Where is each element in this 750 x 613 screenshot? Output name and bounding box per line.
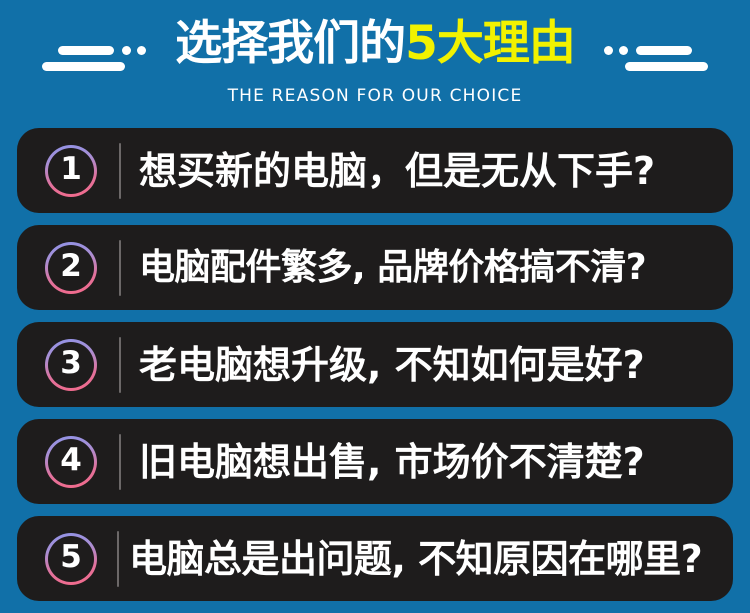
reason-divider [119, 337, 121, 393]
reason-divider [119, 434, 121, 490]
promo-poster: 选择我们的5大理由 THE REASON FOR OUR CHOICE 1 想买… [0, 0, 750, 613]
reason-list: 1 想买新的电脑，但是无从下手? 2 电脑配件繁多, 品牌价格搞不清? 3 老电… [17, 128, 733, 613]
reason-text: 电脑配件繁多, 品牌价格搞不清? [139, 250, 733, 286]
reason-item: 2 电脑配件繁多, 品牌价格搞不清? [17, 225, 733, 310]
reason-item: 5 电脑总是出问题, 不知原因在哪里? [17, 516, 733, 601]
reason-number-badge: 5 [45, 533, 97, 585]
title-wrap: 选择我们的5大理由 [0, 20, 750, 67]
reason-item: 1 想买新的电脑，但是无从下手? [17, 128, 733, 213]
page-title-yellow-part: 5大理由 [405, 16, 575, 71]
page-subtitle: THE REASON FOR OUR CHOICE [0, 86, 750, 106]
reason-number-badge: 4 [45, 436, 97, 488]
reason-text: 电脑总是出问题, 不知原因在哪里? [129, 540, 733, 578]
reason-number-badge: 3 [45, 339, 97, 391]
reason-item: 3 老电脑想升级, 不知如何是好? [17, 322, 733, 407]
reason-text: 旧电脑想出售, 市场价不清楚? [139, 443, 733, 481]
reason-divider [117, 531, 119, 587]
page-title: 选择我们的5大理由 [0, 20, 750, 67]
reason-item: 4 旧电脑想出售, 市场价不清楚? [17, 419, 733, 504]
reason-divider [119, 143, 121, 199]
reason-number: 2 [60, 251, 82, 284]
reason-number: 1 [60, 154, 82, 187]
reason-number-badge: 1 [45, 145, 97, 197]
reason-text: 想买新的电脑，但是无从下手? [139, 152, 733, 190]
reason-number: 4 [60, 445, 82, 478]
reason-number-badge: 2 [45, 242, 97, 294]
poster-header: 选择我们的5大理由 THE REASON FOR OUR CHOICE [0, 0, 750, 120]
reason-number: 3 [60, 348, 82, 381]
reason-text: 老电脑想升级, 不知如何是好? [139, 346, 733, 384]
page-title-white-part: 选择我们的 [175, 16, 405, 71]
reason-divider [119, 240, 121, 296]
reason-number: 5 [60, 542, 82, 575]
